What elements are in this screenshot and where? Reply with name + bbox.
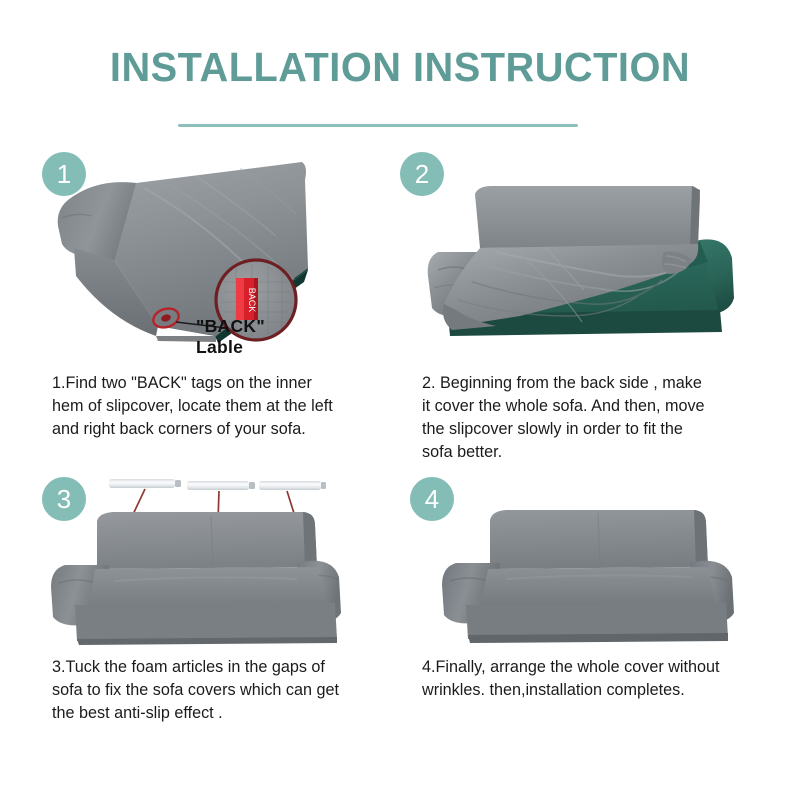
step-caption-3: 3.Tuck the foam articles in the gaps of … xyxy=(52,656,382,725)
step-badge-3: 3 xyxy=(42,477,86,521)
step-badge-1: 1 xyxy=(42,152,86,196)
step-caption-1: 1.Find two "BACK" tags on the inner hem … xyxy=(52,372,372,441)
page-title: INSTALLATION INSTRUCTION xyxy=(12,46,788,89)
step-badge-2: 2 xyxy=(400,152,444,196)
step-caption-2: 2. Beginning from the back side , make i… xyxy=(422,372,772,464)
step-caption-4: 4.Finally, arrange the whole cover witho… xyxy=(422,656,782,702)
title-divider xyxy=(178,124,578,127)
back-label-callout-text: "BACK" Lable xyxy=(196,316,265,358)
figure-sofa-covered-with-foam-strips xyxy=(35,465,380,655)
step-badge-4: 4 xyxy=(410,477,454,521)
svg-text:BACK: BACK xyxy=(247,288,257,313)
figure-sofa-fully-covered-finished xyxy=(410,465,780,655)
header: INSTALLATION INSTRUCTION xyxy=(0,46,800,89)
figure-sofa-green-with-cover-draped xyxy=(400,140,780,350)
